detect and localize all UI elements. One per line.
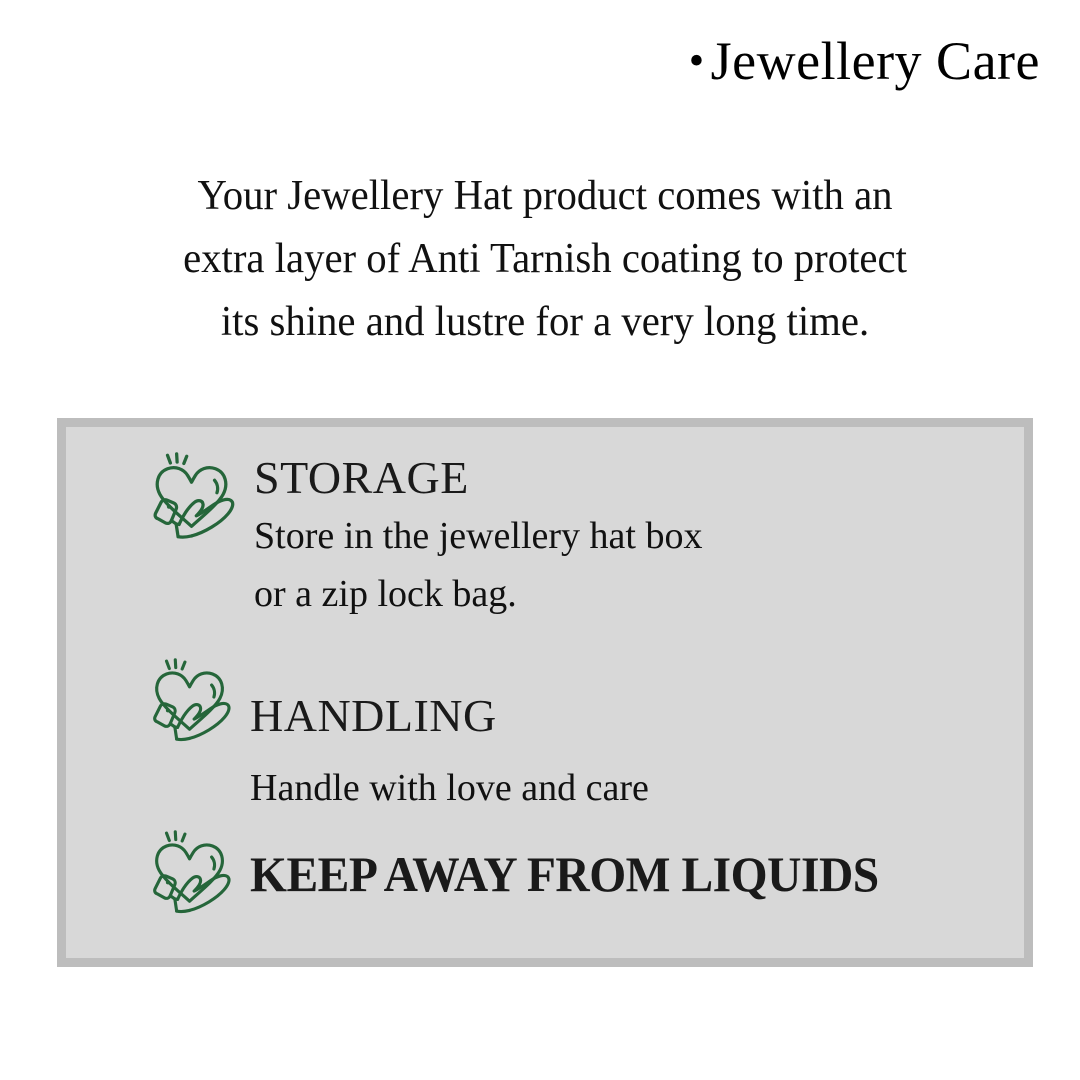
title-bullet-icon: • <box>689 36 711 85</box>
heart-in-hand-icon <box>144 451 240 547</box>
care-item-heading: HANDLING <box>250 691 649 741</box>
care-item-body-line: or a zip lock bag. <box>254 565 703 623</box>
intro-paragraph: Your Jewellery Hat product comes with an… <box>84 165 1006 354</box>
list-item-text: HANDLING Handle with love and care <box>250 657 649 817</box>
intro-line: extra layer of Anti Tarnish coating to p… <box>84 228 1006 291</box>
list-item-text: KEEP AWAY FROM LIQUIDS <box>250 829 912 901</box>
heart-in-hand-icon <box>144 657 236 749</box>
care-instructions-list: STORAGE Store in the jewellery hat box o… <box>66 427 1024 958</box>
list-item: KEEP AWAY FROM LIQUIDS <box>144 829 912 921</box>
care-item-body-line: Handle with love and care <box>250 759 649 817</box>
page-title-row: •Jewellery Care <box>0 30 1040 92</box>
list-item: HANDLING Handle with love and care <box>144 657 649 817</box>
list-item: STORAGE Store in the jewellery hat box o… <box>144 451 703 623</box>
intro-line: its shine and lustre for a very long tim… <box>84 291 1006 354</box>
intro-line: Your Jewellery Hat product comes with an <box>84 165 1006 228</box>
care-item-heading: STORAGE <box>254 453 703 503</box>
care-instructions-card: STORAGE Store in the jewellery hat box o… <box>57 418 1033 967</box>
page-title-text: Jewellery Care <box>711 31 1040 91</box>
jewellery-care-page: •Jewellery Care Your Jewellery Hat produ… <box>0 0 1080 1080</box>
care-item-heading: KEEP AWAY FROM LIQUIDS <box>250 847 879 901</box>
care-item-body-line: Store in the jewellery hat box <box>254 507 703 565</box>
page-title: •Jewellery Care <box>689 30 1040 92</box>
care-item-body: Store in the jewellery hat box or a zip … <box>254 507 703 623</box>
heart-in-hand-icon <box>144 829 236 921</box>
list-item-text: STORAGE Store in the jewellery hat box o… <box>254 451 703 623</box>
care-item-body: Handle with love and care <box>250 759 649 817</box>
